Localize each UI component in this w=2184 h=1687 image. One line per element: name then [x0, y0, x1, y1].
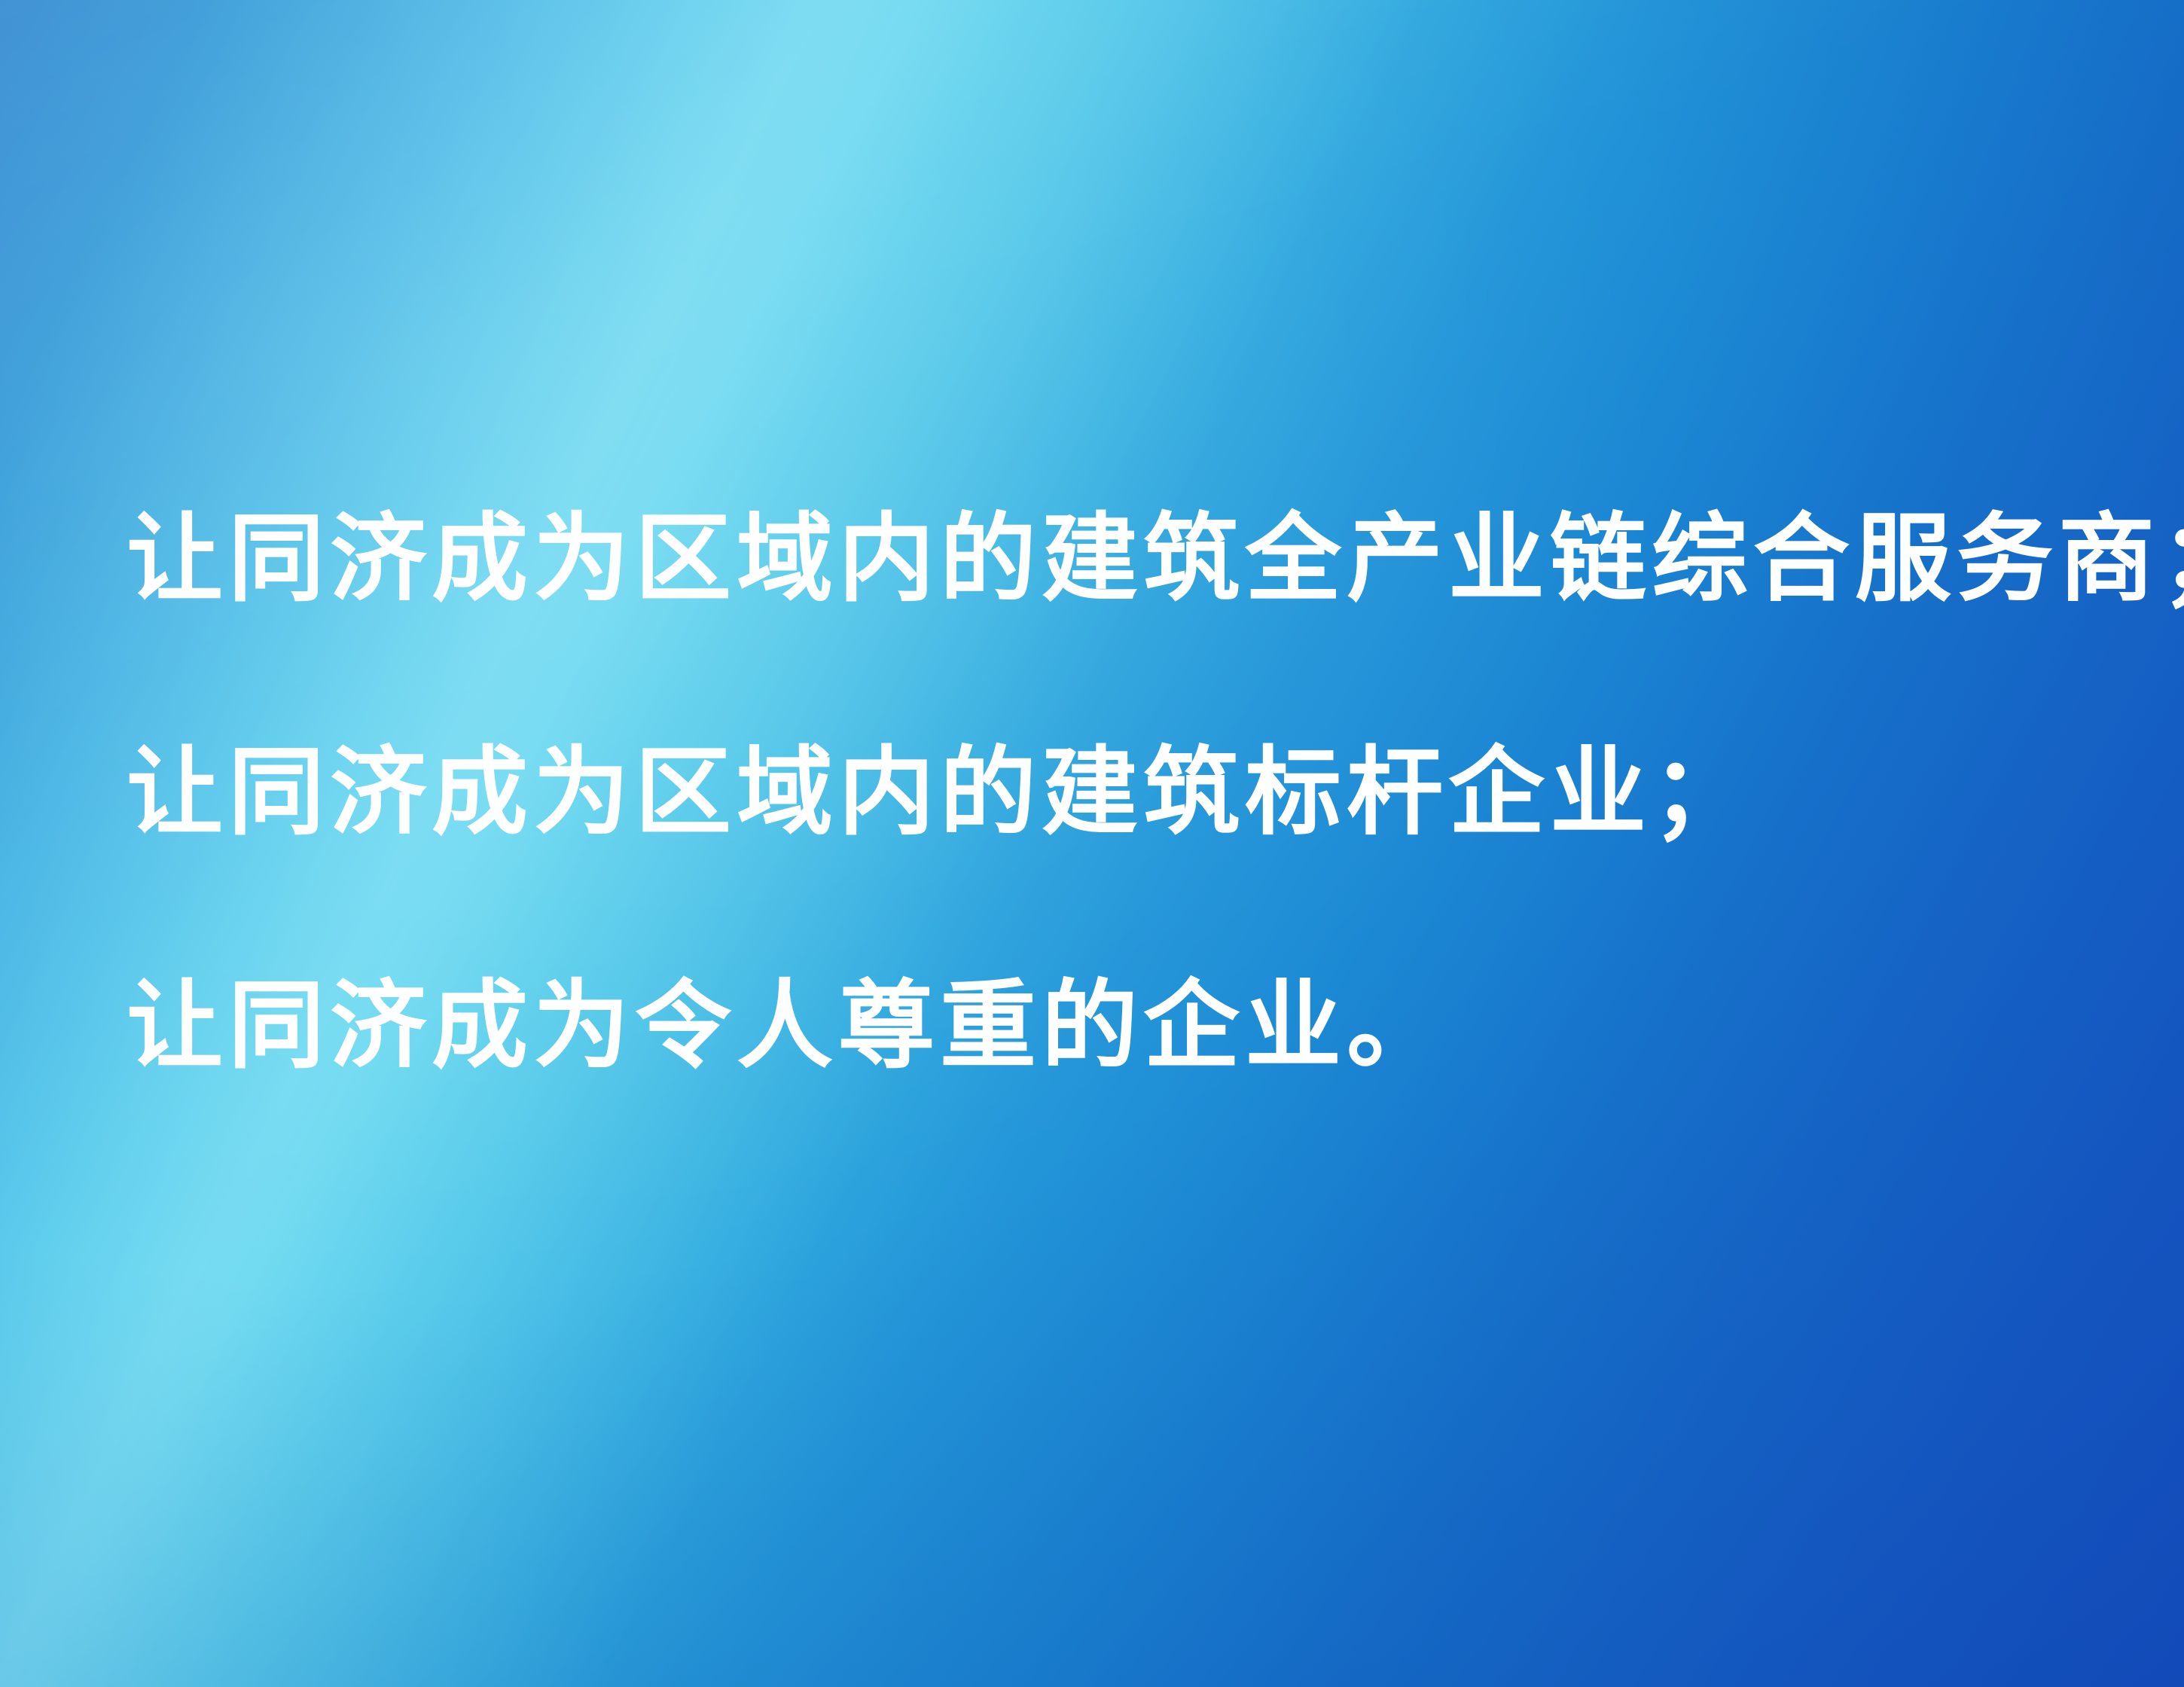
- slide-text-line-1: 让同济成为区域内的建筑全产业链综合服务商；: [127, 443, 2100, 676]
- slide-text-line-2: 让同济成为区域内的建筑标杆企业；: [127, 676, 2100, 910]
- slide-text-line-3: 让同济成为令人尊重的企业。: [127, 910, 2100, 1143]
- slide-text-block: 让同济成为区域内的建筑全产业链综合服务商； 让同济成为区域内的建筑标杆企业； 让…: [127, 443, 2100, 1143]
- slide-canvas: 让同济成为区域内的建筑全产业链综合服务商； 让同济成为区域内的建筑标杆企业； 让…: [0, 0, 2184, 1687]
